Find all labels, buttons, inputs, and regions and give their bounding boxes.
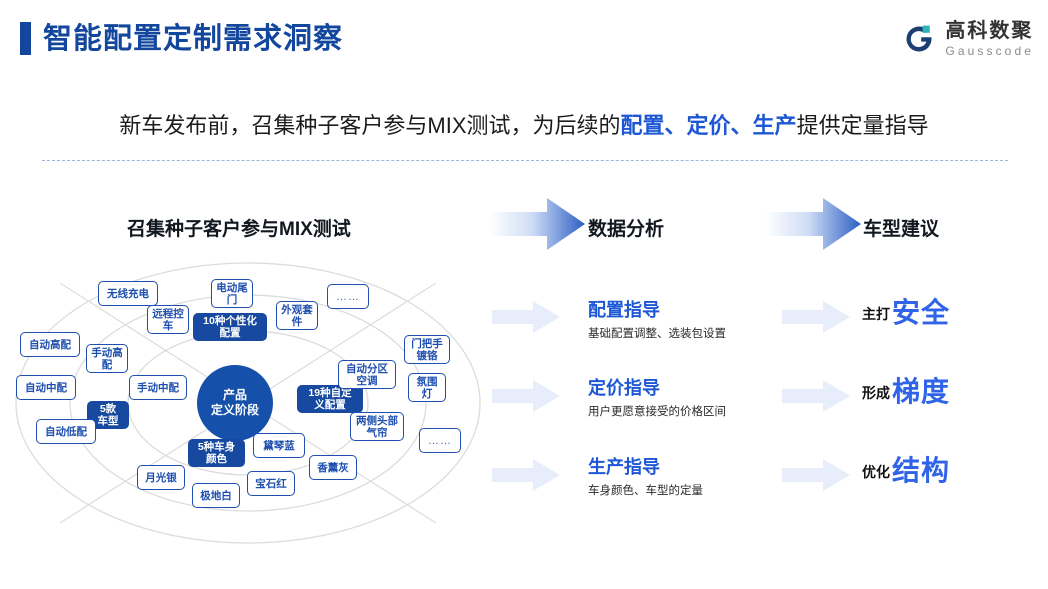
diagram-node-auto-high: 自动高配 [20,332,80,357]
diagram-badge-19-config: 19种自定 义配置 [297,385,363,413]
diagram-node-head-airbag: 两侧头部气帘 [350,412,404,441]
mix-test-diagram: 产品 定义阶段 10种个性化 配置 19种自定 义配置 5款 车型 [8,255,488,545]
subtitle-line: 新车发布前，召集种子客户参与MIX测试，为后续的配置、定价、生产提供定量指导 [0,108,1048,140]
diagram-node-auto-low: 自动低配 [36,419,96,444]
diagram-node-auto-mid: 自动中配 [16,375,76,400]
row-arrow-right-1-icon [782,300,850,334]
row-arrow-right-2-icon [782,379,850,413]
badge-4-line-1: 5种车身 [198,441,235,453]
column-header-right: 车型建议 [863,214,939,241]
slide-root: 智能配置定制需求洞察 高科数聚 Gausscode 新车发布前，召集种子客户参与… [0,0,1048,589]
suggestion-row-3: 优化 结构 [862,456,950,486]
logo-english-name: Gausscode [945,45,1034,57]
subtitle-part2: 提供定量指导 [797,113,929,138]
suggestion-row-1-keyword: 安全 [892,298,950,328]
diagram-badge-5-colors: 5种车身 颜色 [188,439,245,467]
suggestion-row-1: 主打 安全 [862,298,950,328]
diagram-node-color-polar-white: 极地白 [192,483,240,508]
diagram-node-remote-control: 远程控车 [147,305,189,334]
diagram-node-appearance-kit: 外观套件 [276,301,318,330]
brand-logo: 高科数聚 Gausscode [902,16,1034,62]
diagram-node-ellipsis-bottom: …… [419,428,461,453]
diagram-badge-10-config: 10种个性化 配置 [193,313,267,341]
logo-chinese-name: 高科数聚 [945,21,1034,41]
suggestion-row-3-keyword: 结构 [892,456,950,486]
page-title: 智能配置定制需求洞察 [43,20,343,58]
diagram-node-wireless-charging: 无线充电 [98,281,158,306]
badge-4-line-2: 颜色 [198,453,235,465]
suggestion-row-2: 形成 梯度 [862,377,950,407]
badge-1-line-1: 10种个性化 [203,315,257,327]
subtitle-part1: 新车发布前，召集种子客户参与MIX测试，为后续的 [119,113,620,138]
badge-3-line-1: 5款 [98,403,119,415]
flow-arrow-1-icon [489,196,585,252]
logo-g-icon [902,22,936,56]
diagram-node-ambient-light: 氛围灯 [408,373,446,402]
diagram-node-color-gray: 香薰灰 [309,455,357,480]
column-header-left: 召集种子客户参与MIX测试 [127,214,351,241]
subtitle-highlight: 配置、定价、生产 [621,113,797,138]
diagram-node-color-ruby-red: 宝石红 [247,471,295,496]
suggestion-row-3-prefix: 优化 [862,462,890,486]
title-accent-bar [20,22,31,55]
diagram-node-manual-high: 手动高配 [86,344,128,373]
diagram-node-manual-mid: 手动中配 [129,375,187,400]
badge-2-line-2: 义配置 [308,399,351,411]
flow-arrow-2-icon [765,196,861,252]
diagram-node-color-blue: 黛琴蓝 [253,433,305,458]
diagram-node-dual-zone-ac: 自动分区空调 [338,360,396,389]
core-line-1: 产品 [211,388,259,403]
suggestion-row-2-keyword: 梯度 [892,377,950,407]
row-arrow-right-3-icon [782,458,850,492]
diagram-node-ellipsis-top: …… [327,284,369,309]
row-arrow-left-2-icon [492,379,560,413]
row-arrow-left-1-icon [492,300,560,334]
suggestion-row-1-prefix: 主打 [862,304,890,328]
diagram-node-chrome-handle: 门把手镀铬 [404,335,450,364]
diagram-node-power-tailgate: 电动尾门 [211,279,253,308]
diagram-core-node: 产品 定义阶段 [197,365,273,441]
badge-3-line-2: 车型 [98,415,119,427]
badge-1-line-2: 配置 [203,327,257,339]
core-line-2: 定义阶段 [211,403,259,418]
suggestion-row-2-prefix: 形成 [862,383,890,407]
section-divider [42,160,1008,161]
column-header-middle: 数据分析 [588,214,664,241]
row-arrow-left-3-icon [492,458,560,492]
slide-header: 智能配置定制需求洞察 高科数聚 Gausscode [0,0,1048,78]
diagram-node-color-moon-silver: 月光银 [137,465,185,490]
